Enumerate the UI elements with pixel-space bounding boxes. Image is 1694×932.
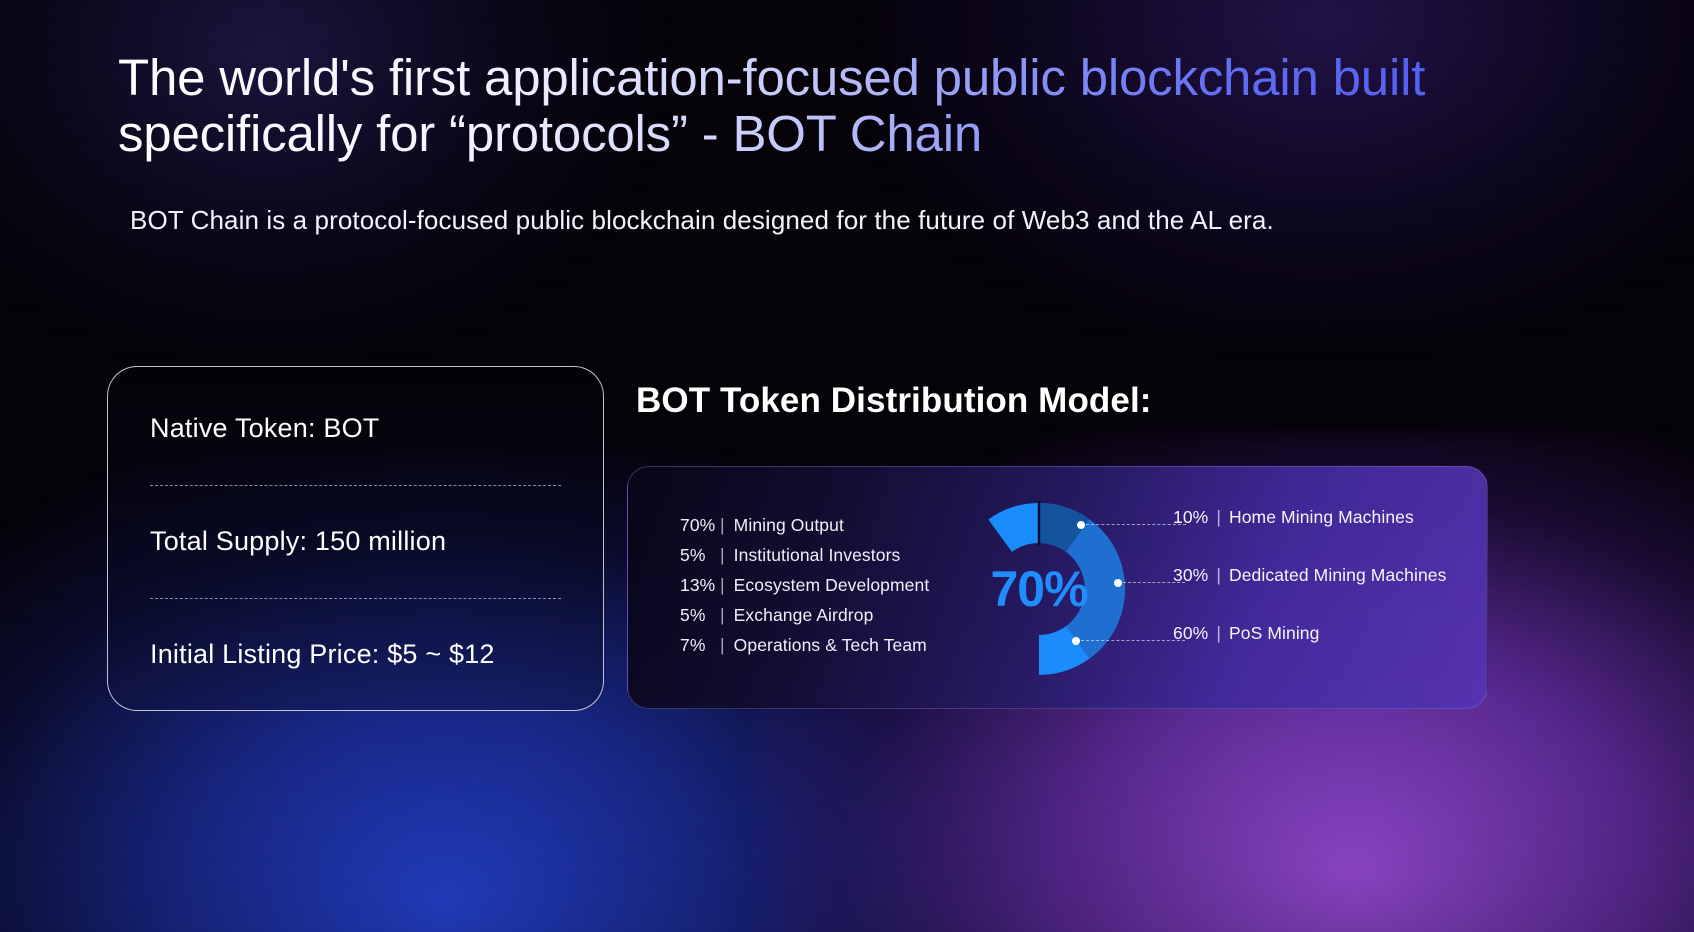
legend-percent: 70% (680, 515, 718, 536)
info-row-native-token: Native Token: BOT (150, 413, 561, 444)
legend-item: 13% | Ecosystem Development (680, 575, 929, 596)
page-subtitle: BOT Chain is a protocol-focused public b… (130, 203, 1274, 237)
distribution-chart-panel: 70% | Mining Output 5% | Institutional I… (627, 466, 1488, 709)
chart-callouts: 10%|Home Mining Machines 30%|Dedicated M… (1173, 507, 1473, 677)
chart-legend: 70% | Mining Output 5% | Institutional I… (680, 515, 929, 656)
callout-percent: 30% (1173, 565, 1208, 585)
legend-label: Operations & Tech Team (734, 635, 927, 656)
legend-label: Institutional Investors (734, 545, 901, 566)
legend-separator: | (720, 545, 725, 566)
legend-percent: 5% (680, 605, 718, 626)
callout-separator: | (1216, 623, 1221, 643)
page-title-line-1: The world's first application-focused pu… (118, 49, 1425, 106)
leader-dash (1081, 640, 1185, 641)
leader-dot (1077, 521, 1085, 529)
leader-dot (1114, 579, 1122, 587)
info-divider-1 (150, 485, 561, 486)
legend-separator: | (720, 605, 725, 626)
callout-percent: 60% (1173, 623, 1208, 643)
info-row-total-supply: Total Supply: 150 million (150, 526, 561, 557)
donut-chart: 70% (947, 483, 1131, 695)
page-title-line-2: specifically for “protocols” - BOT Chain (118, 106, 1538, 162)
callout-separator: | (1216, 507, 1221, 527)
info-row-initial-listing-price: Initial Listing Price: $5 ~ $12 (150, 639, 561, 670)
page-title: The world's first application-focused pu… (118, 50, 1538, 162)
callout-label: Home Mining Machines (1229, 507, 1414, 527)
legend-item: 5% | Exchange Airdrop (680, 605, 929, 626)
callout-label: Dedicated Mining Machines (1229, 565, 1446, 585)
callout-pos-mining: 60%|PoS Mining (1173, 623, 1319, 644)
token-info-card: Native Token: BOT Total Supply: 150 mill… (107, 366, 604, 711)
info-divider-2 (150, 598, 561, 599)
legend-item: 70% | Mining Output (680, 515, 929, 536)
legend-percent: 5% (680, 545, 718, 566)
callout-separator: | (1216, 565, 1221, 585)
callout-percent: 10% (1173, 507, 1208, 527)
legend-item: 5% | Institutional Investors (680, 545, 929, 566)
legend-separator: | (720, 575, 725, 596)
leader-dot (1072, 637, 1080, 645)
callout-dedicated-mining-machines: 30%|Dedicated Mining Machines (1173, 565, 1446, 586)
callout-home-mining-machines: 10%|Home Mining Machines (1173, 507, 1414, 528)
legend-label: Ecosystem Development (734, 575, 930, 596)
legend-item: 7% | Operations & Tech Team (680, 635, 929, 656)
legend-separator: | (720, 635, 725, 656)
legend-label: Exchange Airdrop (734, 605, 874, 626)
legend-label: Mining Output (734, 515, 844, 536)
slide-root: The world's first application-focused pu… (0, 0, 1694, 932)
legend-percent: 13% (680, 575, 718, 596)
leader-dash (1086, 524, 1186, 525)
distribution-heading: BOT Token Distribution Model: (636, 381, 1152, 421)
legend-percent: 7% (680, 635, 718, 656)
legend-separator: | (720, 515, 725, 536)
donut-chart-svg (947, 483, 1131, 695)
callout-label: PoS Mining (1229, 623, 1320, 643)
